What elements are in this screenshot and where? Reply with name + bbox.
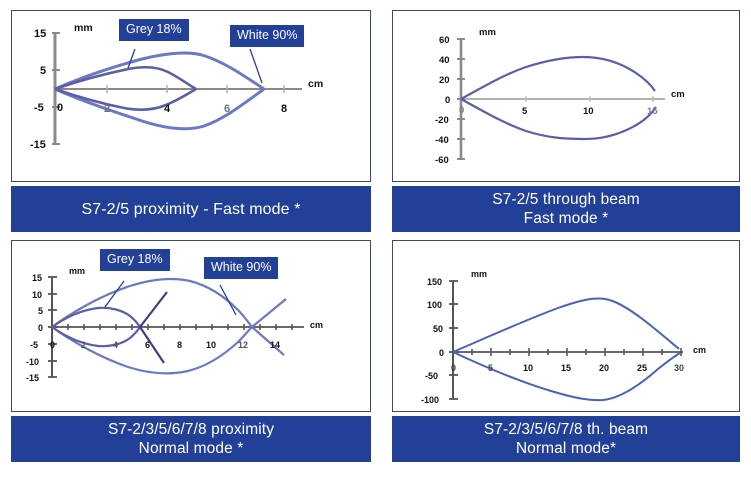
caption-bottom-right-line1: S7-2/3/5/6/7/8 th. beam (484, 420, 648, 439)
figure-sheet: mm 15 5 -5 -15 0 2 4 6 8 cm Grey 18 (0, 0, 751, 478)
curve-white-90-lower (52, 327, 252, 373)
curve-through-beam-lower (453, 352, 680, 400)
chart-bottom-right: mm 150 100 50 0 -50 -100 0 5 10 15 20 25… (393, 241, 739, 411)
x-axis-unit-label: cm (308, 78, 323, 90)
chart-top-right: mm 60 40 20 0 -20 -40 -60 0 5 10 15 cm (393, 11, 739, 181)
y-axis-unit-label: mm (479, 27, 496, 38)
plot-area-top-right: mm 60 40 20 0 -20 -40 -60 0 5 10 15 cm (392, 10, 740, 182)
x-tick-label-4: 4 (164, 103, 171, 115)
caption-top-right: S7-2/5 through beam Fast mode * (392, 186, 740, 232)
curve-grey-18-lower (55, 89, 196, 110)
caption-bottom-left-line2: Normal mode * (108, 439, 274, 458)
grey-18-label-text: Grey 18% (126, 22, 182, 36)
x-tick-label-0: 0 (459, 105, 464, 116)
caption-bottom-right: S7-2/3/5/6/7/8 th. beam Normal mode* (392, 416, 740, 462)
y-tick-label-40: 40 (439, 55, 450, 66)
white-90-label-text: White 90% (211, 260, 271, 274)
y-tick-label-50: 50 (433, 324, 443, 334)
x-tick-label-0: 0 (451, 363, 456, 373)
chart-svg-top-left: mm 15 5 -5 -15 0 2 4 6 8 cm (12, 11, 371, 181)
curve-through-beam-upper (453, 298, 679, 352)
caption-top-right-line1: S7-2/5 through beam (492, 190, 640, 209)
plot-area-bottom-right: mm 150 100 50 0 -50 -100 0 5 10 15 20 25… (392, 240, 740, 412)
y-tick-label-5: 5 (38, 306, 43, 316)
grey-18-label: Grey 18% (119, 19, 189, 41)
panel-top-left: mm 15 5 -5 -15 0 2 4 6 8 cm Grey 18 (11, 10, 371, 232)
beam-white-upper (252, 299, 286, 327)
x-tick-label-5: 5 (522, 106, 528, 117)
x-tick-label-5: 5 (488, 363, 493, 373)
y-tick-label-minus15: -15 (30, 139, 46, 151)
curve-white-90-upper (55, 53, 264, 89)
x-tick-label-15: 15 (561, 363, 571, 373)
x-tick-label-0: 0 (50, 340, 55, 350)
panel-bottom-right: mm 150 100 50 0 -50 -100 0 5 10 15 20 25… (392, 240, 740, 462)
x-tick-label-6: 6 (145, 340, 150, 350)
chart-svg-bottom-left: mm 15 10 5 0 -5 -10 -15 0 2 4 6 8 10 12 … (12, 241, 371, 411)
x-tick-label-15: 15 (647, 106, 658, 117)
x-tick-label-12: 12 (238, 340, 248, 350)
y-tick-label-minus5: -5 (30, 340, 38, 350)
white-90-label: White 90% (204, 257, 278, 279)
x-tick-label-8: 8 (281, 103, 287, 115)
x-axis-unit-label: cm (310, 320, 323, 330)
x-tick-label-20: 20 (599, 363, 609, 373)
curve-through-beam-lower (461, 99, 656, 139)
plot-area-bottom-left: mm 15 10 5 0 -5 -10 -15 0 2 4 6 8 10 12 … (11, 240, 371, 412)
y-tick-label-minus50: -50 (425, 371, 438, 381)
leader-line-white (250, 49, 262, 83)
y-tick-label-minus15: -15 (26, 373, 39, 383)
y-tick-label-minus10: -10 (26, 357, 39, 367)
plot-area-top-left: mm 15 5 -5 -15 0 2 4 6 8 cm Grey 18 (11, 10, 371, 182)
y-tick-label-20: 20 (439, 75, 450, 86)
x-axis-unit-label: cm (671, 89, 685, 100)
y-tick-label-minus40: -40 (435, 135, 449, 146)
curve-white-90-lower (55, 89, 264, 129)
y-tick-label-0: 0 (38, 323, 43, 333)
white-90-label-text: White 90% (237, 28, 297, 42)
chart-svg-bottom-right: mm 150 100 50 0 -50 -100 0 5 10 15 20 25… (393, 241, 740, 411)
caption-bottom-right-line2: Normal mode* (484, 439, 648, 458)
y-axis-unit-label: mm (74, 22, 93, 34)
y-axis-unit-label: mm (471, 269, 487, 279)
curve-through-beam-upper (461, 57, 655, 99)
x-tick-label-4: 4 (113, 340, 118, 350)
y-tick-label-15: 15 (32, 273, 42, 283)
chart-bottom-left: mm 15 10 5 0 -5 -10 -15 0 2 4 6 8 10 12 … (12, 241, 370, 411)
x-tick-label-30: 30 (674, 363, 684, 373)
x-tick-label-2: 2 (81, 340, 86, 350)
x-tick-label-2: 2 (104, 103, 110, 115)
chart-svg-top-right: mm 60 40 20 0 -20 -40 -60 0 5 10 15 cm (393, 11, 740, 181)
leader-line-grey (128, 49, 135, 68)
y-tick-label-minus60: -60 (435, 155, 449, 166)
y-axis-unit-label: mm (69, 266, 85, 276)
y-tick-label-150: 150 (427, 277, 442, 287)
x-tick-label-8: 8 (177, 340, 182, 350)
y-tick-label-100: 100 (427, 300, 442, 310)
y-tick-label-0: 0 (445, 95, 450, 106)
caption-top-left-line1: S7-2/5 proximity - Fast mode * (81, 200, 300, 219)
panel-bottom-left: mm 15 10 5 0 -5 -10 -15 0 2 4 6 8 10 12 … (11, 240, 371, 462)
chart-top-left: mm 15 5 -5 -15 0 2 4 6 8 cm (12, 11, 370, 181)
y-tick-label-minus20: -20 (435, 115, 449, 126)
x-tick-label-25: 25 (637, 363, 647, 373)
y-tick-label-10: 10 (32, 290, 42, 300)
beam-grey-upper (140, 292, 167, 327)
x-axis-unit-label: cm (693, 345, 706, 355)
x-tick-label-10: 10 (206, 340, 216, 350)
panel-top-right: mm 60 40 20 0 -20 -40 -60 0 5 10 15 cm (392, 10, 740, 232)
curve-grey-18-upper (55, 67, 196, 89)
y-tick-label-minus5: -5 (34, 102, 44, 114)
x-tick-label-14: 14 (270, 340, 280, 350)
y-tick-label-15: 15 (34, 28, 46, 40)
beam-grey-lower (140, 327, 164, 363)
x-tick-label-10: 10 (523, 363, 533, 373)
y-tick-label-5: 5 (40, 65, 46, 77)
grey-18-label-text: Grey 18% (107, 252, 163, 266)
caption-bottom-left: S7-2/3/5/6/7/8 proximity Normal mode * (11, 416, 371, 462)
curve-white-90-upper (52, 279, 252, 327)
y-tick-label-minus100: -100 (421, 395, 439, 405)
white-90-label: White 90% (230, 25, 304, 47)
caption-top-left: S7-2/5 proximity - Fast mode * (11, 186, 371, 232)
grey-18-label: Grey 18% (100, 249, 170, 271)
x-tick-label-6: 6 (224, 103, 230, 115)
y-tick-label-0: 0 (439, 348, 444, 358)
x-tick-label-10: 10 (583, 106, 594, 117)
caption-top-right-line2: Fast mode * (492, 209, 640, 228)
leader-line-white (220, 285, 236, 315)
caption-bottom-left-line1: S7-2/3/5/6/7/8 proximity (108, 420, 274, 439)
y-tick-label-60: 60 (439, 35, 450, 46)
x-tick-label-0: 0 (57, 102, 63, 114)
